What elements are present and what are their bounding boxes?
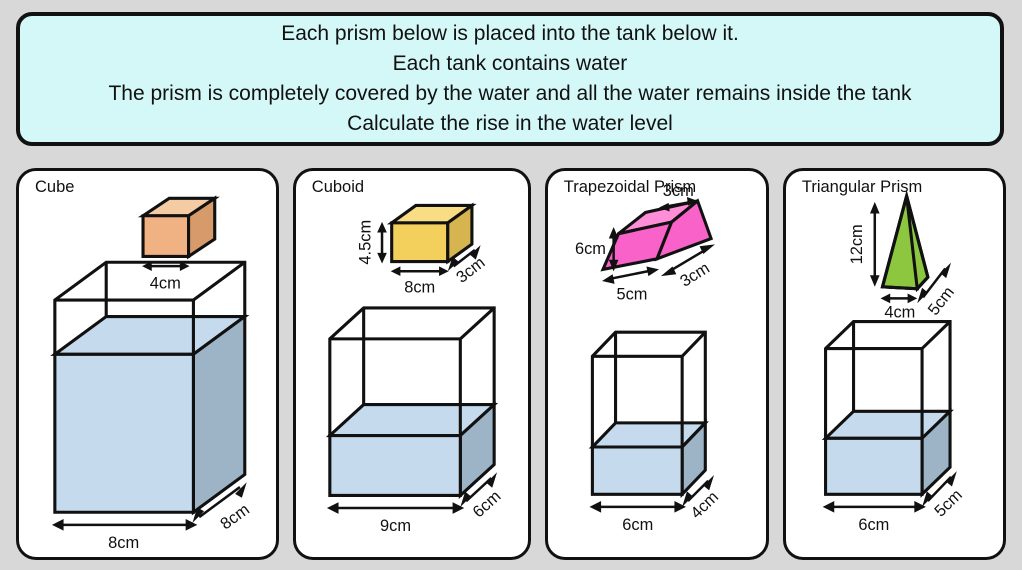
cuboid-panel-figure: 4.5cm 8cm 3cm [296,171,528,557]
panels-row: Cube 4cm [16,168,1006,560]
dimension-label: 8cm [108,534,139,552]
dimension-label: 4cm [687,488,722,522]
prism-triangular [882,196,927,289]
triangular-panel-figure: 12cm 4cm 5cm [786,171,1003,557]
dimension-label: 9cm [380,517,411,535]
instruction-line-3: The prism is completely covered by the w… [108,80,911,108]
dimension-label: 4cm [884,304,915,322]
panel-title-cuboid: Cuboid [312,178,364,197]
tank-triangular [825,322,949,495]
instruction-box: Each prism below is placed into the tank… [16,12,1004,146]
panel-cube: Cube 4cm [16,168,279,560]
panel-trapezoidal-prism: Trapezoidal Prism 3cm [545,168,769,560]
dimension-trap-base: 5cm [602,267,659,304]
cube-panel-figure: 4cm 8cm [19,171,276,557]
dimension-label: 5cm [616,285,647,303]
dimension-label: 6cm [575,240,606,258]
tank-cuboid [330,308,494,496]
dimension-label: 4cm [150,274,181,292]
trapezoidal-panel-figure: 3cm 6cm 5cm 3cm [548,171,766,557]
panel-title-cube: Cube [35,178,74,197]
dimension-label: 4.5cm [356,220,374,265]
dimension-tri-base: 4cm [880,294,917,322]
dimension-label: 8cm [217,501,253,534]
dimension-tank-width: 6cm [823,501,926,534]
instruction-line-1: Each prism below is placed into the tank… [281,20,739,48]
dimension-cuboid-width: 8cm [391,266,449,296]
dimension-label: 3cm [453,254,489,287]
dimension-label: 12cm [848,224,866,264]
panel-title-triangular-prism: Triangular Prism [802,178,922,197]
dimension-cuboid-height: 4.5cm [356,220,386,265]
instruction-line-2: Each tank contains water [393,50,628,78]
dimension-label: 8cm [404,278,435,296]
dimension-tank-width: 8cm [52,519,197,552]
dimension-label: 6cm [622,516,653,534]
dimension-tank-width: 6cm [589,501,686,534]
dimension-cube-width: 4cm [142,261,189,292]
prism-trapezoidal [603,201,711,270]
panel-title-trapezoidal-prism: Trapezoidal Prism [564,178,696,197]
dimension-tank-width: 9cm [327,502,464,535]
dimension-tri-height: 12cm [848,202,879,287]
tank-trapezoidal [592,332,705,494]
panel-triangular-prism: Triangular Prism 12cm [783,168,1006,560]
prism-cube [143,198,215,256]
prism-cuboid [391,205,471,261]
panel-cuboid: Cuboid 4.5cm 8cm [293,168,531,560]
instruction-line-4: Calculate the rise in the water level [347,110,673,138]
dimension-label: 6cm [858,516,889,534]
tank-cube [55,262,245,512]
